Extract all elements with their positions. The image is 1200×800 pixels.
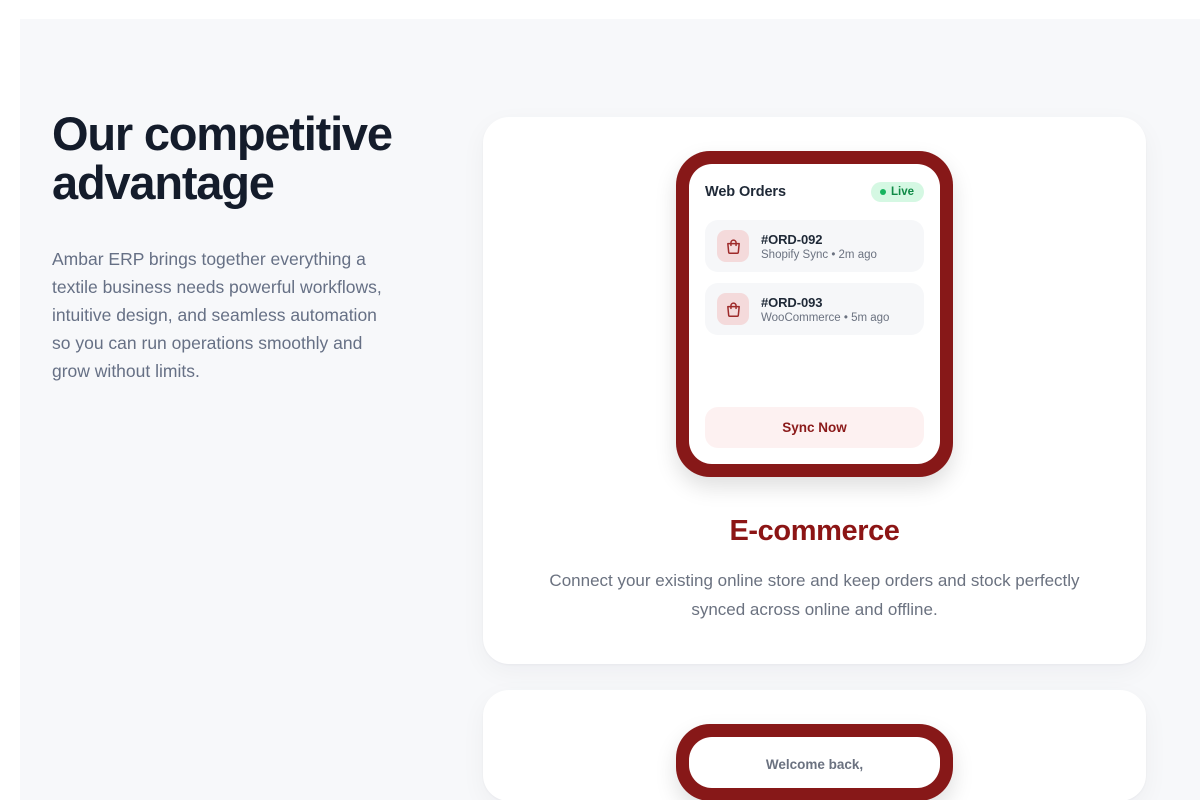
phone-screen-header: Web Orders Live <box>705 182 924 202</box>
shopping-bag-icon <box>717 293 749 325</box>
order-text: #ORD-092 Shopify Sync • 2m ago <box>761 232 877 261</box>
phone-mockup: Welcome back, <box>676 724 953 800</box>
feature-card-ecommerce[interactable]: Web Orders Live <box>483 117 1146 664</box>
welcome-message: Welcome back, <box>705 757 924 772</box>
page-title: Our competitive advantage <box>52 109 432 207</box>
order-text: #ORD-093 WooCommerce • 5m ago <box>761 295 889 324</box>
order-list-item[interactable]: #ORD-092 Shopify Sync • 2m ago <box>705 220 924 272</box>
page-layout: Our competitive advantage Ambar ERP brin… <box>20 19 1200 800</box>
order-id: #ORD-092 <box>761 232 877 247</box>
screenshot-root: Our competitive advantage Ambar ERP brin… <box>0 0 1200 800</box>
feature-card-body: Web Orders Live <box>511 151 1118 624</box>
order-list: #ORD-092 Shopify Sync • 2m ago <box>705 220 924 335</box>
shopping-bag-icon <box>717 230 749 262</box>
hero-text-column: Our competitive advantage Ambar ERP brin… <box>52 109 432 385</box>
phone-screen: Welcome back, <box>689 737 940 788</box>
phone-screen-title: Web Orders <box>705 184 786 200</box>
order-meta: WooCommerce • 5m ago <box>761 312 889 324</box>
phone-screen-spacer <box>705 335 924 407</box>
status-dot-icon <box>880 189 886 195</box>
feature-card-column: Web Orders Live <box>483 117 1146 800</box>
order-list-item[interactable]: #ORD-093 WooCommerce • 5m ago <box>705 283 924 335</box>
status-badge-label: Live <box>891 186 914 198</box>
order-id: #ORD-093 <box>761 295 889 310</box>
feature-card-description: Connect your existing online store and k… <box>526 566 1104 624</box>
page-canvas: Our competitive advantage Ambar ERP brin… <box>20 19 1200 800</box>
feature-card-title: E-commerce <box>729 515 899 548</box>
hero-subcopy: Ambar ERP brings together everything a t… <box>52 245 397 385</box>
status-badge: Live <box>871 182 924 202</box>
feature-card-secondary[interactable]: Welcome back, <box>483 690 1146 800</box>
phone-screen: Web Orders Live <box>689 164 940 464</box>
order-meta: Shopify Sync • 2m ago <box>761 249 877 261</box>
sync-now-button[interactable]: Sync Now <box>705 407 924 448</box>
feature-card-body: Welcome back, <box>511 724 1118 800</box>
phone-mockup: Web Orders Live <box>676 151 953 477</box>
